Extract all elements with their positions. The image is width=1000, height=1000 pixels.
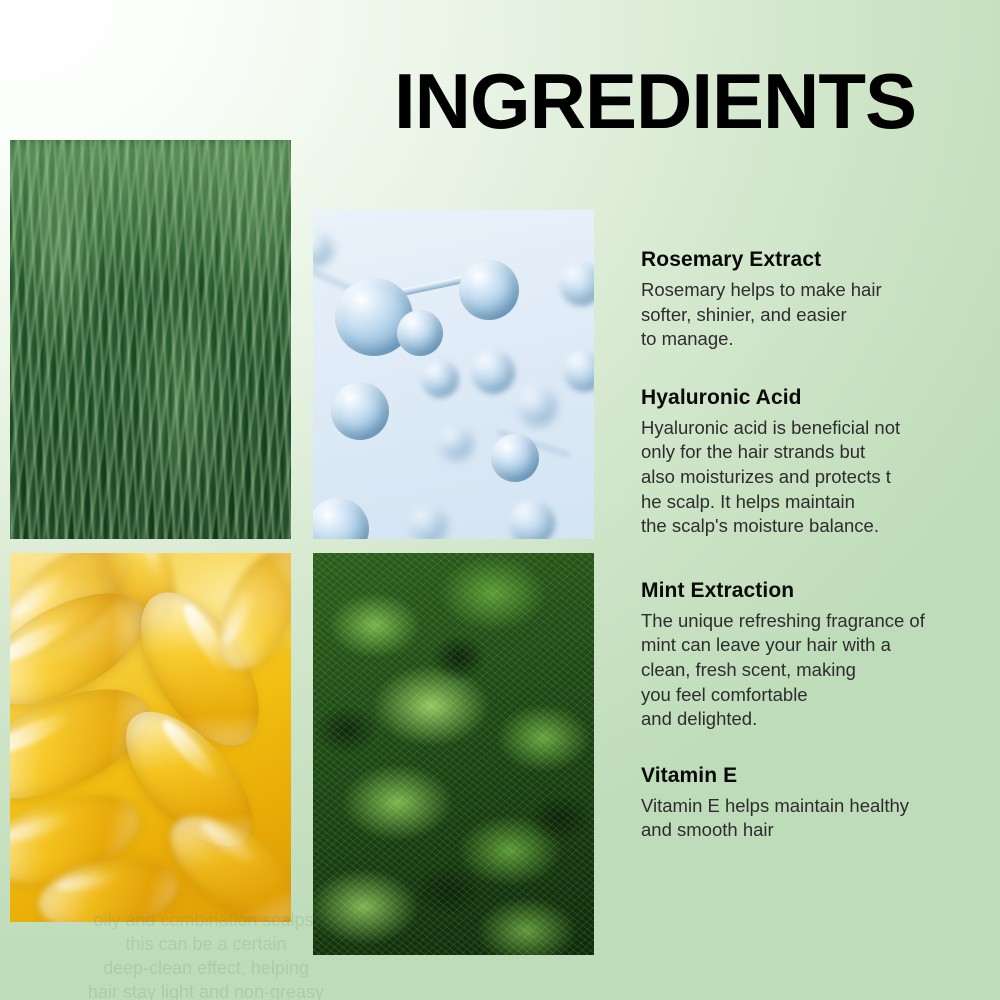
ingredient-description: Hyaluronic acid is beneficial not only f… bbox=[641, 416, 961, 539]
molecule-sphere bbox=[509, 500, 555, 539]
molecule-sphere bbox=[313, 498, 369, 539]
ingredient-rosemary-extract: Rosemary Extract Rosemary helps to make … bbox=[641, 248, 961, 352]
molecule-sphere bbox=[459, 260, 519, 320]
rosemary-photo bbox=[10, 140, 291, 539]
page-title: INGREDIENTS bbox=[355, 62, 955, 140]
ingredient-vitamin-e: Vitamin E Vitamin E helps maintain healt… bbox=[641, 764, 961, 843]
ingredient-name: Vitamin E bbox=[641, 764, 961, 788]
molecule-sphere bbox=[397, 310, 443, 356]
mint-veins bbox=[313, 553, 594, 955]
molecule-sphere bbox=[563, 350, 594, 392]
mint-photo bbox=[313, 553, 594, 955]
molecule-sphere bbox=[331, 382, 389, 440]
ingredient-name: Mint Extraction bbox=[641, 579, 961, 603]
molecule-sphere bbox=[517, 386, 557, 426]
molecule-sphere bbox=[421, 360, 459, 398]
ingredient-description: Vitamin E helps maintain healthy and smo… bbox=[641, 794, 961, 843]
molecule-sphere bbox=[559, 262, 594, 306]
ingredients-poster: INGREDIENTS bbox=[0, 0, 1000, 1000]
ingredient-list: Rosemary Extract Rosemary helps to make … bbox=[641, 248, 961, 843]
capsule-photo bbox=[10, 553, 291, 922]
molecule-sphere bbox=[313, 232, 333, 266]
molecule-photo bbox=[313, 210, 594, 539]
ingredient-description: Rosemary helps to make hair softer, shin… bbox=[641, 278, 961, 352]
faded-footer-note: oily and combination scalps, this can be… bbox=[26, 908, 386, 1000]
molecule-sphere bbox=[439, 426, 473, 460]
ingredient-hyaluronic-acid: Hyaluronic Acid Hyaluronic acid is benef… bbox=[641, 386, 961, 539]
ingredient-name: Hyaluronic Acid bbox=[641, 386, 961, 410]
molecule-sphere bbox=[471, 350, 515, 394]
ingredient-description: The unique refreshing fragrance of mint … bbox=[641, 609, 961, 732]
rosemary-haze bbox=[10, 140, 291, 290]
ingredient-mint-extraction: Mint Extraction The unique refreshing fr… bbox=[641, 579, 961, 732]
ingredient-name: Rosemary Extract bbox=[641, 248, 961, 272]
molecule-sphere bbox=[491, 434, 539, 482]
molecule-sphere bbox=[409, 506, 447, 539]
